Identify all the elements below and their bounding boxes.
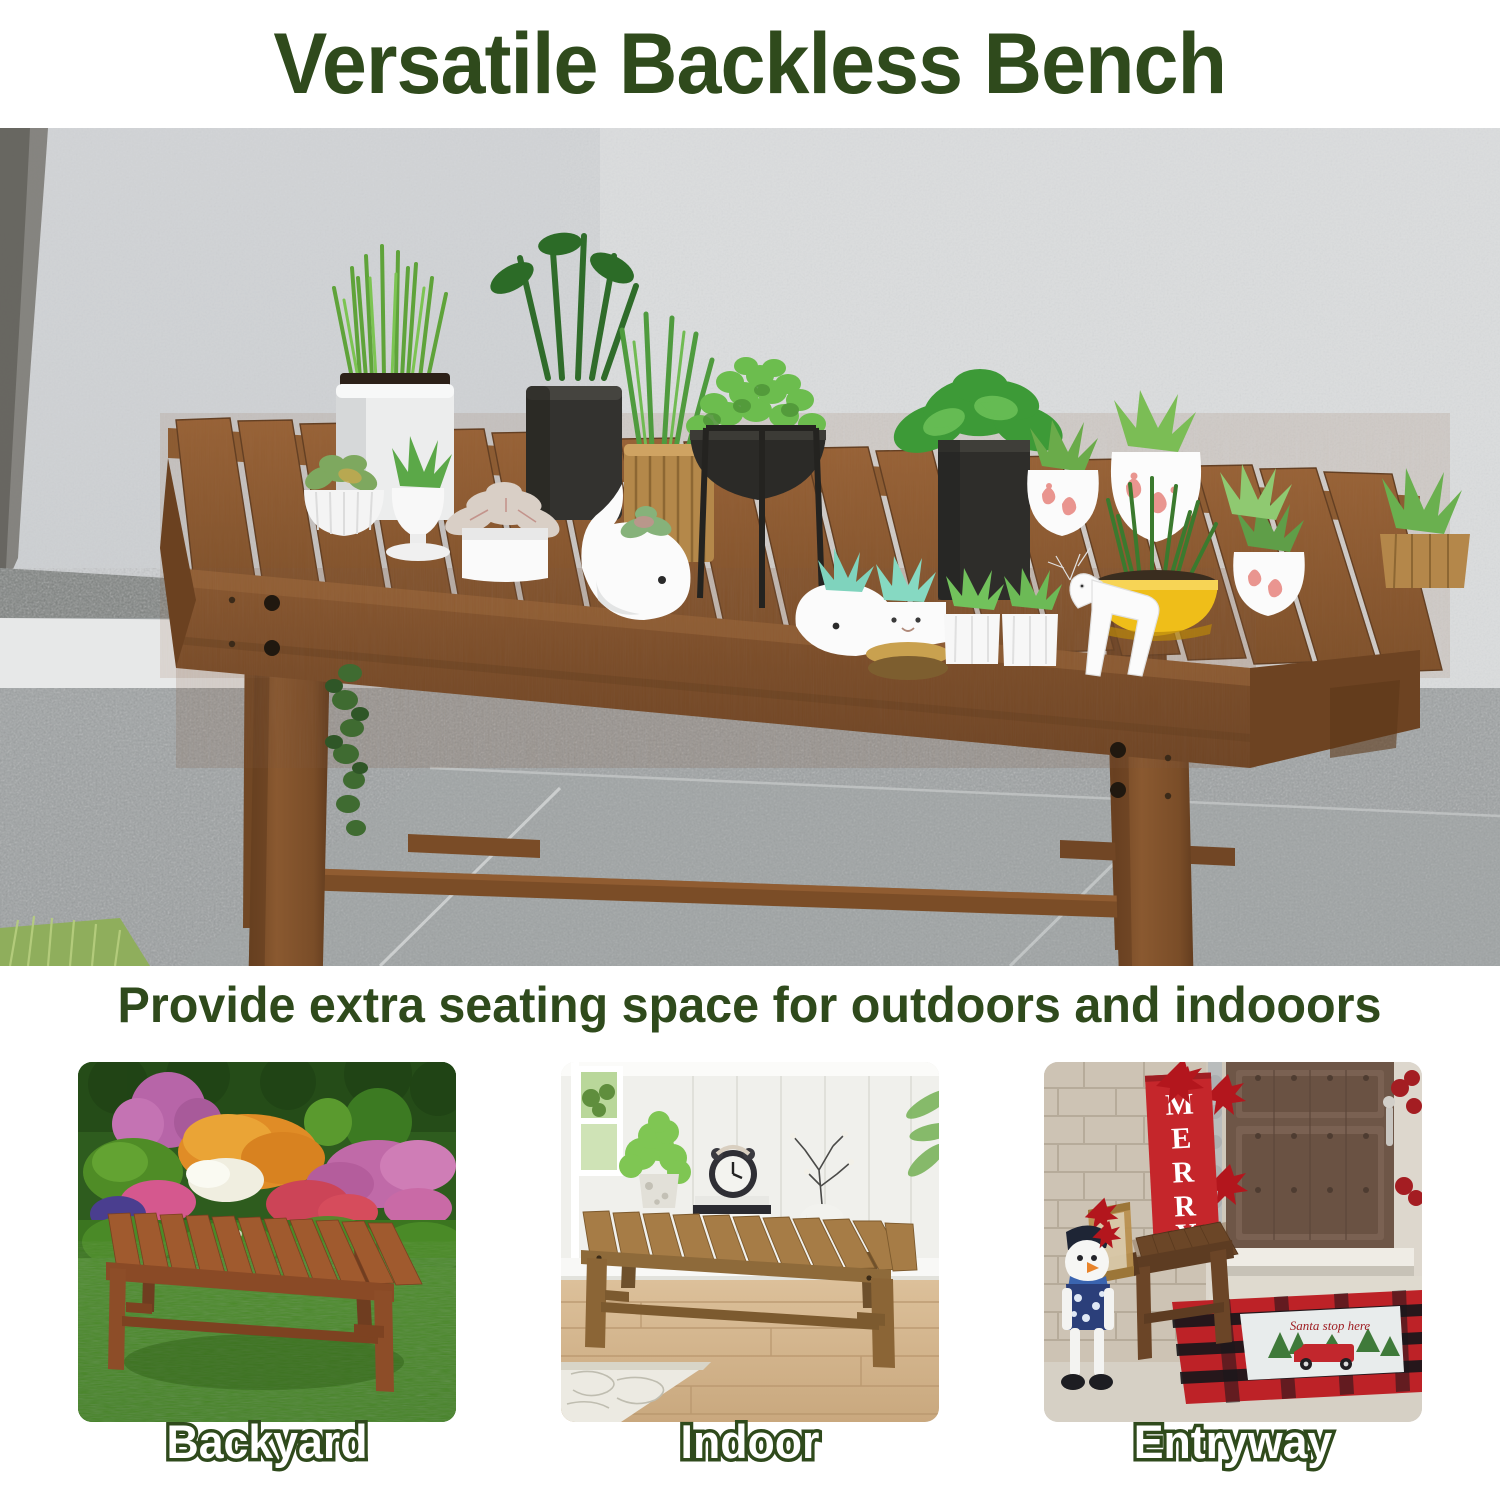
entryway-illustration: M E R R Y	[1044, 1062, 1422, 1422]
svg-text:Santa stop here: Santa stop here	[1290, 1318, 1371, 1333]
page-title: Versatile Backless Bench	[274, 21, 1227, 107]
scene-label-entryway: Entryway	[1053, 1418, 1412, 1465]
scene-label-indoor: Indoor	[570, 1418, 929, 1465]
indoor-illustration	[561, 1062, 939, 1422]
svg-text:E: E	[1170, 1122, 1192, 1156]
title-banner: Versatile Backless Bench	[0, 0, 1500, 128]
scene-label-backyard: Backyard	[87, 1418, 446, 1465]
backyard-illustration	[78, 1062, 456, 1422]
scene-thumbnail-backyard[interactable]	[78, 1062, 456, 1422]
scene-thumbnail-indoor[interactable]	[561, 1062, 939, 1422]
scene-thumbnail-entryway[interactable]: M E R R Y	[1044, 1062, 1422, 1422]
product-marketing-image: Versatile Backless Bench	[0, 0, 1500, 1500]
svg-text:R: R	[1171, 1155, 1195, 1189]
hero-illustration	[0, 128, 1500, 966]
subtitle-text: Provide extra seating space for outdoors…	[118, 980, 1382, 1030]
hero-product-photo	[0, 128, 1500, 966]
subtitle-banner: Provide extra seating space for outdoors…	[0, 966, 1500, 1044]
